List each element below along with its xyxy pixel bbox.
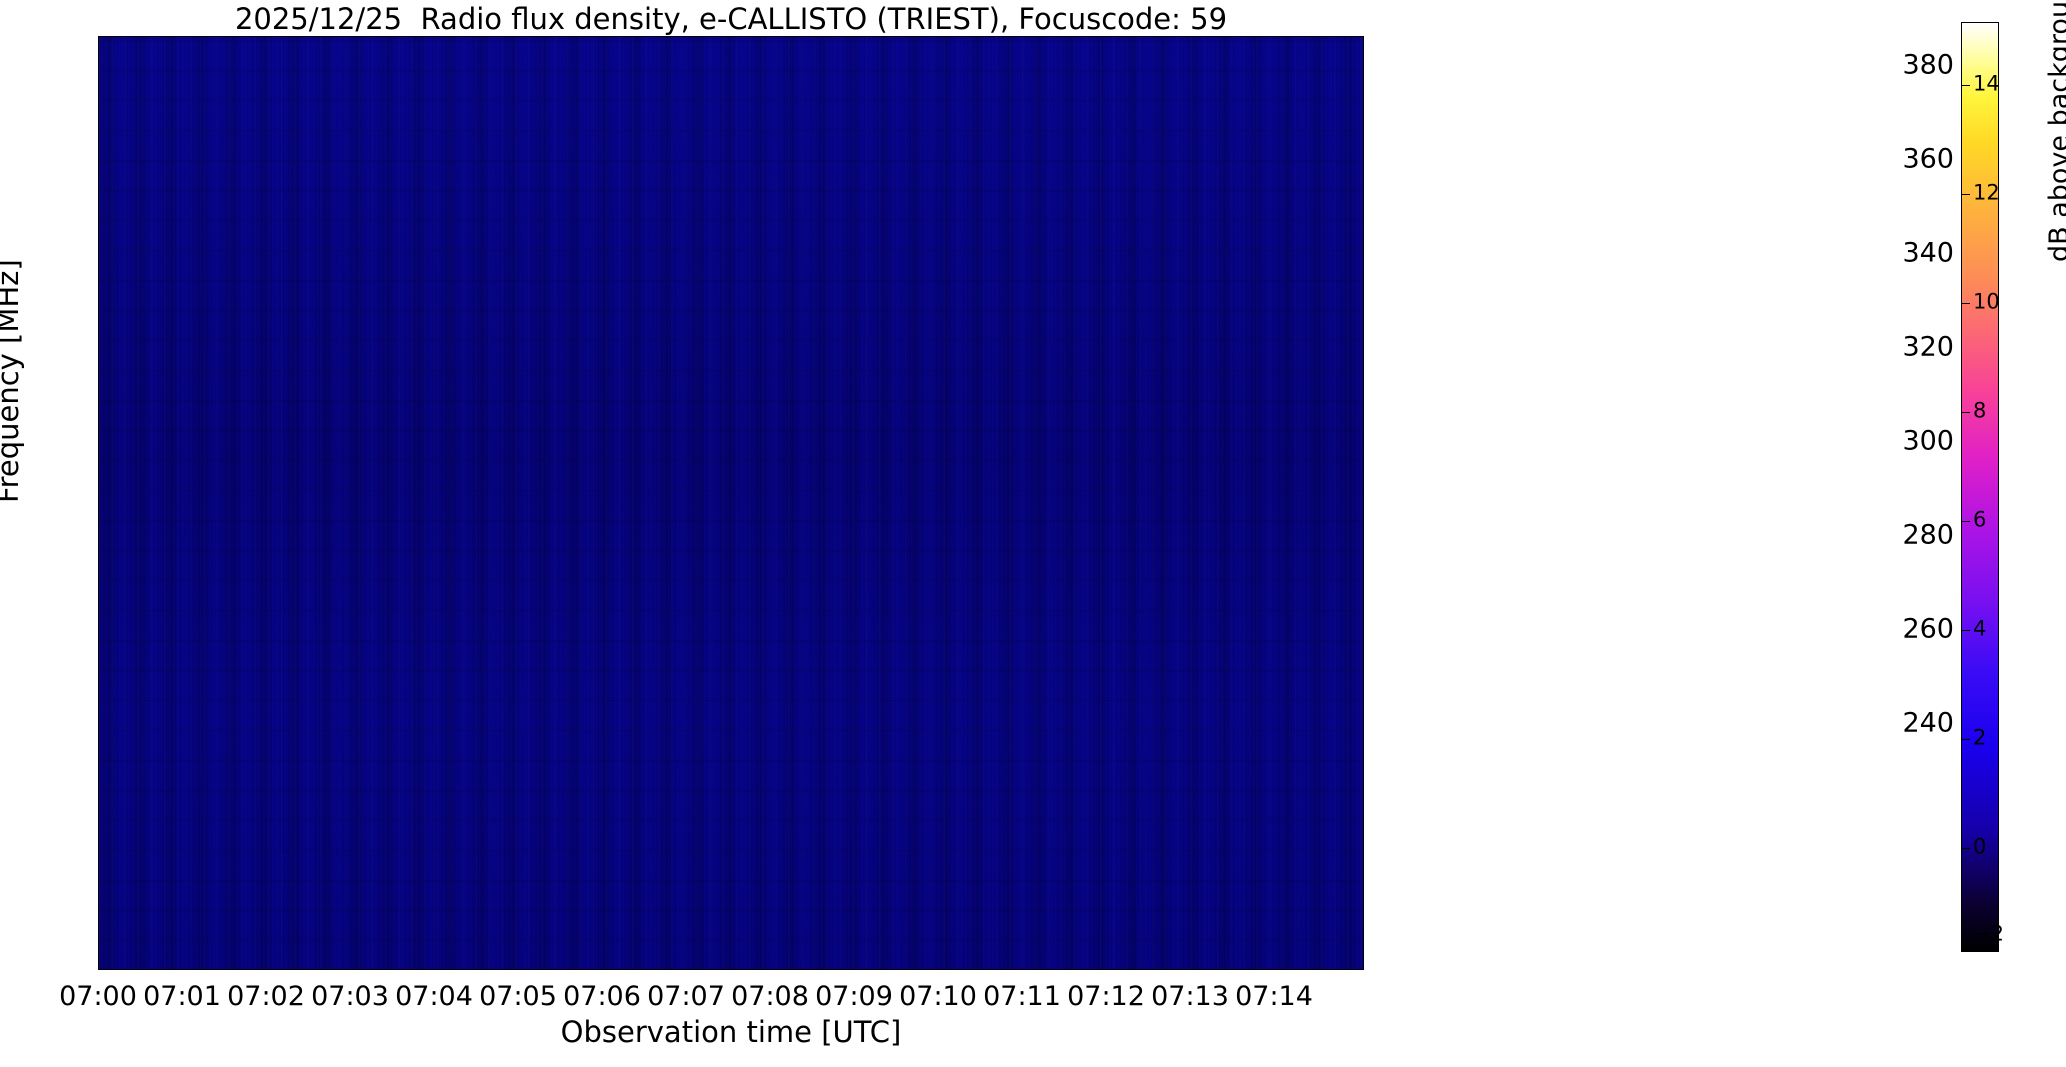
colorbar-label-2: 2 <box>1973 728 1986 749</box>
ytick-label-320: 320 <box>1902 334 1954 361</box>
ytick-label-340: 340 <box>1902 240 1954 267</box>
xtick-label-0702: 07:02 <box>227 982 305 1012</box>
colorbar-label-14: 14 <box>1973 74 2000 95</box>
xtick-label-0704: 07:04 <box>395 982 473 1012</box>
xtick-label-0712: 07:12 <box>1067 982 1145 1012</box>
ytick-label-240: 240 <box>1902 710 1954 737</box>
page-title: 2025/12/25 Radio flux density, e-CALLIST… <box>98 2 1364 36</box>
spectrogram-axes[interactable] <box>98 36 1364 970</box>
spectrogram-image <box>99 37 1363 969</box>
colorbar-label-6: 6 <box>1973 510 1986 531</box>
colorbar-label-10: 10 <box>1973 292 2000 313</box>
colorbar-label-4: 4 <box>1973 619 1986 640</box>
xtick-label-0701: 07:01 <box>143 982 221 1012</box>
colorbar-gradient <box>1962 23 1998 951</box>
xtick-label-0707: 07:07 <box>647 982 725 1012</box>
ytick-label-280: 280 <box>1902 522 1954 549</box>
figure-canvas: 2025/12/25 Radio flux density, e-CALLIST… <box>0 0 2066 1067</box>
colorbar-label-0: 0 <box>1973 837 1986 858</box>
colorbar-label-minus2: −2 <box>1973 924 2004 945</box>
xtick-label-0710: 07:10 <box>899 982 977 1012</box>
colorbar-axis-label: dB above background <box>2046 0 2066 262</box>
colorbar-label-12: 12 <box>1973 183 2000 204</box>
y-axis-label: Frequency [MHz] <box>0 259 23 503</box>
ytick-label-380: 380 <box>1902 52 1954 79</box>
xtick-label-0711: 07:11 <box>983 982 1061 1012</box>
colorbar[interactable] <box>1961 22 1999 952</box>
ytick-label-260: 260 <box>1902 616 1954 643</box>
xtick-label-0708: 07:08 <box>731 982 809 1012</box>
xtick-label-0714: 07:14 <box>1235 982 1313 1012</box>
xtick-label-0705: 07:05 <box>479 982 557 1012</box>
ytick-label-300: 300 <box>1902 428 1954 455</box>
colorbar-label-8: 8 <box>1973 401 1986 422</box>
ytick-label-360: 360 <box>1902 146 1954 173</box>
xtick-label-0713: 07:13 <box>1151 982 1229 1012</box>
xtick-label-0703: 07:03 <box>311 982 389 1012</box>
xtick-label-0700: 07:00 <box>59 982 137 1012</box>
xtick-label-0706: 07:06 <box>563 982 641 1012</box>
xtick-label-0709: 07:09 <box>815 982 893 1012</box>
x-axis-label: Observation time [UTC] <box>98 1016 1364 1048</box>
